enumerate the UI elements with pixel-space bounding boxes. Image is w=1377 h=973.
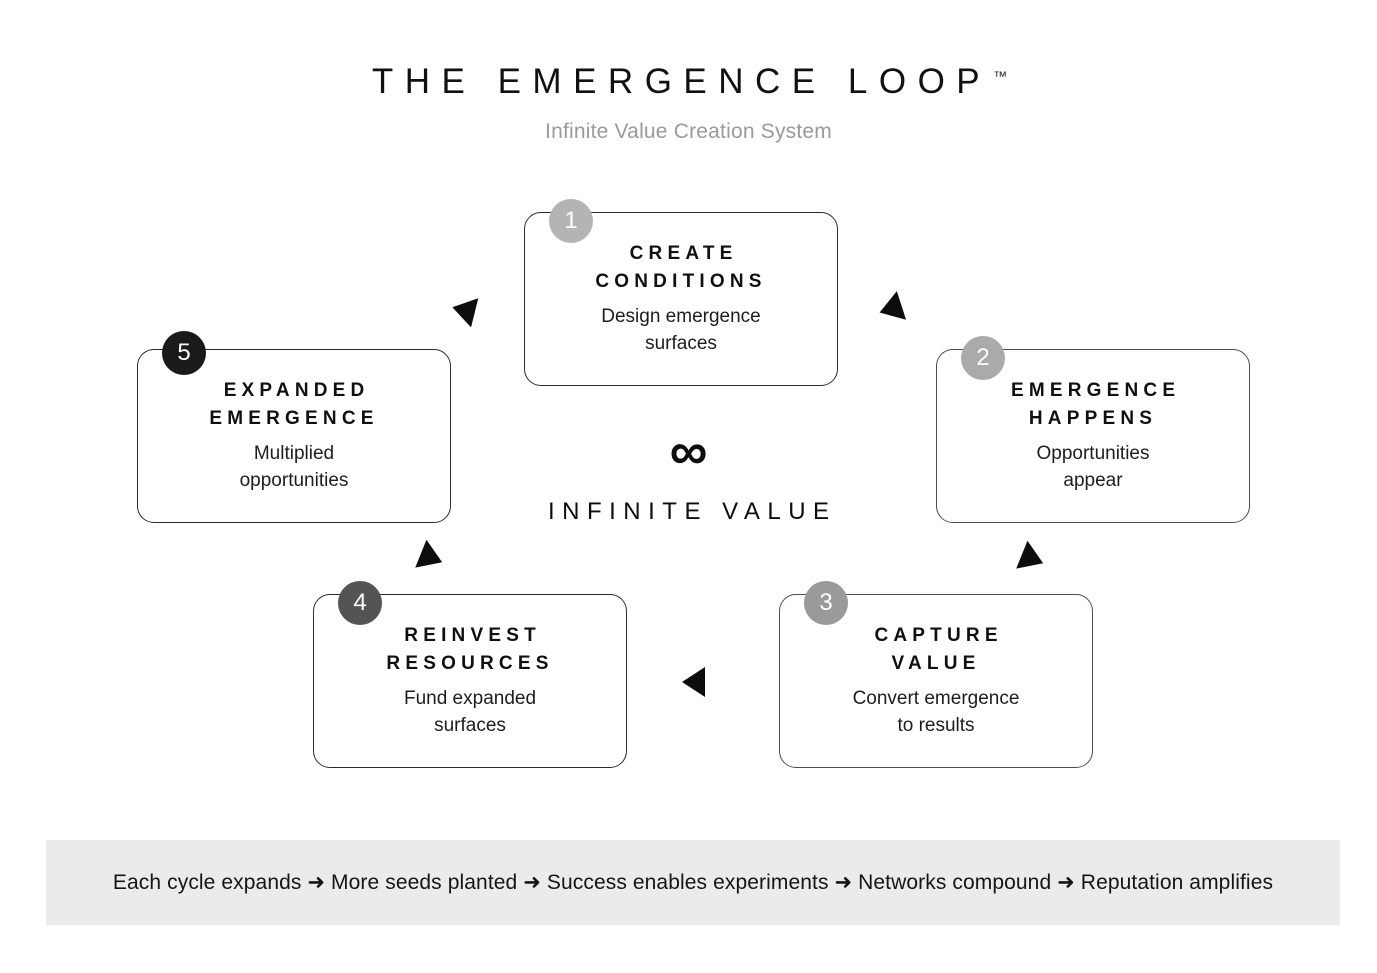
arrow-5-to-1-icon <box>449 293 479 328</box>
step-node-4-description: Fund expanded surfaces <box>394 685 546 740</box>
step-node-3-description: Convert emergence to results <box>843 685 1030 740</box>
step-node-2-description: Opportunities appear <box>1026 440 1159 495</box>
step-node-5-title-line1: EXPANDED <box>224 380 370 401</box>
footer-band: Each cycle expands ➜ More seeds planted … <box>46 840 1340 925</box>
step-node-1-desc-line1: Design emergence <box>601 306 760 327</box>
step-node-4-desc-line2: surfaces <box>434 715 506 736</box>
diagram-canvas: THE EMERGENCE LOOP™ Infinite Value Creat… <box>0 0 1377 973</box>
page-subtitle: Infinite Value Creation System <box>0 120 1377 144</box>
step-badge-2: 2 <box>961 336 1005 380</box>
arrow-3-to-4-icon <box>682 667 705 697</box>
step-badge-2-number: 2 <box>976 346 989 370</box>
arrow-2-to-3-icon <box>1016 541 1049 577</box>
step-node-2-desc-line1: Opportunities <box>1036 443 1149 464</box>
step-node-1-title-line1: CREATE <box>630 243 738 264</box>
step-node-3-desc-line2: to results <box>897 715 974 736</box>
arrow-1-to-2-icon <box>875 291 906 327</box>
step-badge-5: 5 <box>162 331 206 375</box>
step-node-5-description: Multiplied opportunities <box>230 440 359 495</box>
step-node-2-title: EMERGENCE HAPPENS <box>996 377 1190 432</box>
step-node-3-title-line2: VALUE <box>892 653 981 674</box>
step-badge-4: 4 <box>338 581 382 625</box>
step-node-4-title-line2: RESOURCES <box>386 653 553 674</box>
step-node-4-desc-line1: Fund expanded <box>404 688 536 709</box>
page-title-text: THE EMERGENCE LOOP <box>372 62 991 102</box>
trademark-symbol: ™ <box>993 68 1007 84</box>
step-node-2-title-line1: EMERGENCE <box>1011 380 1180 401</box>
step-node-3-title: CAPTURE VALUE <box>859 622 1012 677</box>
step-node-5-title-line2: EMERGENCE <box>209 408 378 429</box>
page-title: THE EMERGENCE LOOP™ <box>0 62 1377 102</box>
step-node-4-title: REINVEST RESOURCES <box>376 622 563 677</box>
step-node-2-desc-line2: appear <box>1063 470 1122 491</box>
arrow-4-to-5-icon <box>415 540 448 576</box>
footer-cycle-text: Each cycle expands ➜ More seeds planted … <box>113 870 1273 895</box>
step-badge-4-number: 4 <box>353 591 366 615</box>
step-node-1-desc-line2: surfaces <box>645 333 717 354</box>
step-node-1-title: CREATE CONDITIONS <box>585 240 776 295</box>
step-badge-3: 3 <box>804 581 848 625</box>
step-node-3-desc-line1: Convert emergence <box>853 688 1020 709</box>
step-node-5-desc-line1: Multiplied <box>254 443 334 464</box>
step-badge-1: 1 <box>549 199 593 243</box>
step-node-2-title-line2: HAPPENS <box>1029 408 1157 429</box>
step-badge-5-number: 5 <box>177 341 190 365</box>
step-node-3-title-line1: CAPTURE <box>874 625 1002 646</box>
step-node-5[interactable]: EXPANDED EMERGENCE Multiplied opportunit… <box>137 349 451 523</box>
step-node-4-title-line1: REINVEST <box>404 625 541 646</box>
step-node-1-title-line2: CONDITIONS <box>595 271 766 292</box>
step-node-5-desc-line2: opportunities <box>240 470 349 491</box>
step-node-5-title: EXPANDED EMERGENCE <box>199 377 388 432</box>
step-badge-3-number: 3 <box>819 591 832 615</box>
step-badge-1-number: 1 <box>564 209 577 233</box>
step-node-1-description: Design emergence surfaces <box>591 303 770 358</box>
